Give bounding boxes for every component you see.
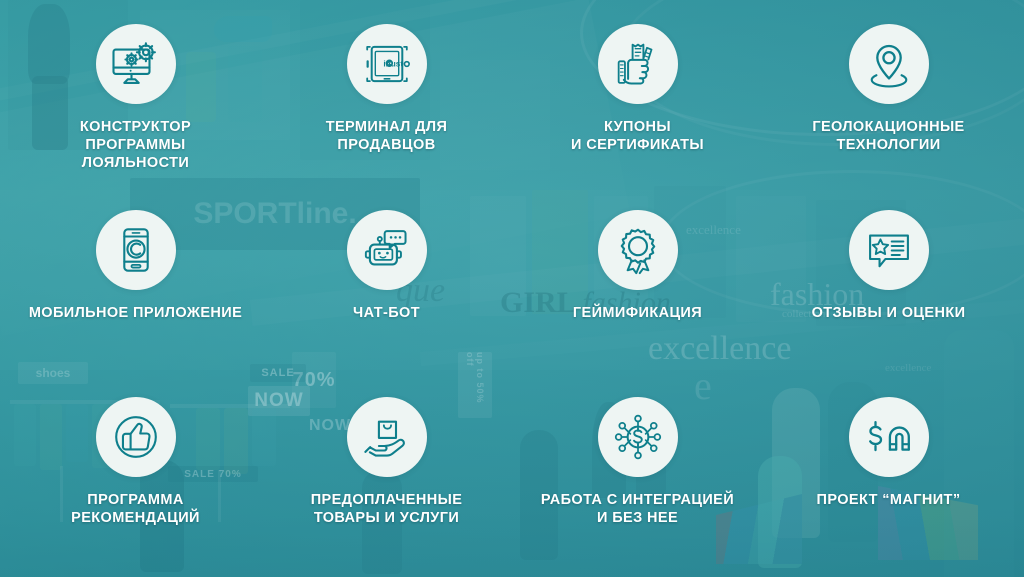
feature-tile-mobile-app[interactable]: МОБИЛЬНОЕ ПРИЛОЖЕНИЕ [10, 202, 261, 386]
feature-tile-referral-program[interactable]: ПРОГРАММА РЕКОМЕНДАЦИЙ [10, 385, 261, 569]
feature-label: ПРЕДОПЛАЧЕННЫЕ ТОВАРЫ И УСЛУГИ [311, 491, 463, 527]
robot-chat-icon [347, 210, 427, 290]
feature-tile-reviews-ratings[interactable]: ОТЗЫВЫ И ОЦЕНКИ [763, 202, 1014, 386]
feature-tile-loyalty-program-builder[interactable]: КОНСТРУКТОР ПРОГРАММЫ ЛОЯЛЬНОСТИ [10, 18, 261, 202]
feature-tile-prepaid-goods-services[interactable]: ПРЕДОПЛАЧЕННЫЕ ТОВАРЫ И УСЛУГИ [261, 385, 512, 569]
hand-shopping-bag-icon [347, 397, 427, 477]
feature-label: МОБИЛЬНОЕ ПРИЛОЖЕНИЕ [29, 304, 242, 322]
feature-label: РАБОТА С ИНТЕГРАЦИЕЙ И БЕЗ НЕЕ [541, 491, 734, 527]
feature-tile-merchant-terminal[interactable]: in ust ТЕРМИНАЛ ДЛЯ ПРОДАВЦОВ [261, 18, 512, 202]
feature-tile-integration-optional[interactable]: РАБОТА С ИНТЕГРАЦИЕЙ И БЕЗ НЕЕ [512, 385, 763, 569]
feature-label: ТЕРМИНАЛ ДЛЯ ПРОДАВЦОВ [326, 118, 448, 154]
feature-label: ПРОЕКТ “МАГНИТ” [817, 491, 961, 509]
hand-coupons-icon [598, 24, 678, 104]
feature-tile-magnet-project[interactable]: ПРОЕКТ “МАГНИТ” [763, 385, 1014, 569]
feature-tile-gamification[interactable]: ГЕЙМИФИКАЦИЯ [512, 202, 763, 386]
feature-grid: КОНСТРУКТОР ПРОГРАММЫ ЛОЯЛЬНОСТИ in ust … [0, 0, 1024, 577]
dollar-magnet-icon [849, 397, 929, 477]
feature-tile-geolocation-technologies[interactable]: ГЕОЛОКАЦИОННЫЕ ТЕХНОЛОГИИ [763, 18, 1014, 202]
feature-label: ГЕЙМИФИКАЦИЯ [573, 304, 702, 322]
feature-label: КУПОНЫ И СЕРТИФИКАТЫ [571, 118, 704, 154]
feature-label: ПРОГРАММА РЕКОМЕНДАЦИЙ [28, 491, 243, 527]
star-review-bubble-icon [849, 210, 929, 290]
award-rosette-icon [598, 210, 678, 290]
smartphone-c-icon [96, 210, 176, 290]
promo-slide: SPORTline. que GIRL fashion excellence f… [0, 0, 1024, 577]
feature-tile-coupons-certificates[interactable]: КУПОНЫ И СЕРТИФИКАТЫ [512, 18, 763, 202]
dollar-network-icon [598, 397, 678, 477]
feature-label: КОНСТРУКТОР ПРОГРАММЫ ЛОЯЛЬНОСТИ [28, 118, 243, 172]
feature-label: ОТЗЫВЫ И ОЦЕНКИ [812, 304, 966, 322]
thumbs-up-icon [96, 397, 176, 477]
monitor-gears-icon [96, 24, 176, 104]
tablet-incust-icon: in ust [347, 24, 427, 104]
feature-tile-chat-bot[interactable]: ЧАТ-БОТ [261, 202, 512, 386]
feature-label: ГЕОЛОКАЦИОННЫЕ ТЕХНОЛОГИИ [812, 118, 964, 154]
map-pin-icon [849, 24, 929, 104]
feature-label: ЧАТ-БОТ [353, 304, 420, 322]
